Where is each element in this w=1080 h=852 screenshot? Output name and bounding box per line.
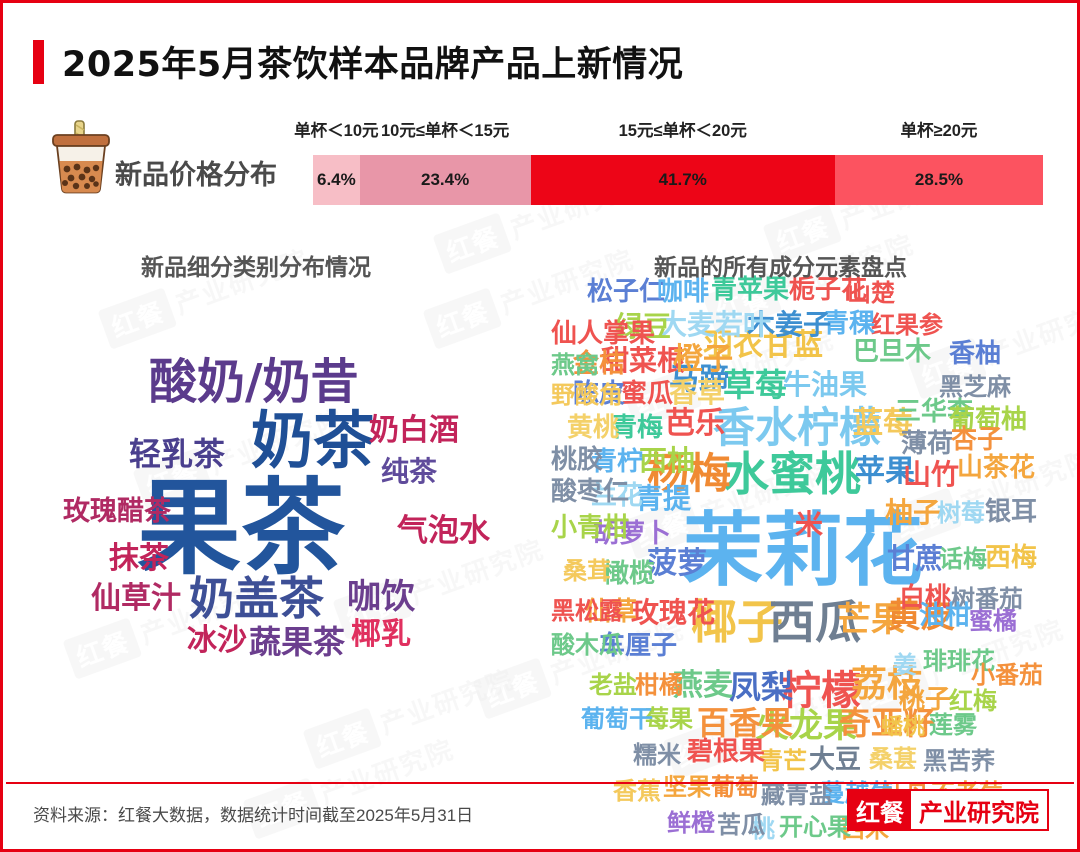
ingredient-word-1: 水蜜桃: [723, 451, 861, 497]
page-title-bar: 2025年5月茶饮样本品牌产品上新情况: [33, 36, 683, 87]
brand-logo: 红餐 产业研究院: [847, 789, 1049, 831]
watermark-badge: 红餐: [433, 212, 513, 274]
ingredient-word-53: 苦瓜: [717, 813, 765, 837]
ingredient-word-cloud: 茉莉花水蜜桃杨梅香水柠檬椰子西瓜柠檬芒果黄皮荔枝火龙果百香果奇亚籽凤梨燕麦草莓马…: [551, 303, 1051, 733]
ingredient-word-62: 柑橘: [635, 673, 683, 697]
ingredient-word-25: 柚子: [885, 499, 941, 527]
ingredient-word-83: 芭乐: [665, 409, 725, 439]
ingredient-word-37: 桃子: [899, 687, 951, 713]
ingredient-word-100: 橙子: [673, 345, 733, 375]
category-word-cloud: 果茶酸奶/奶昔奶茶奶盖茶轻乳茶奶白酒玫瑰醋茶纯茶气泡水抹茶仙草汁咖饮椰乳冰沙蔬果…: [39, 358, 539, 658]
ingredient-word-29: 话梅: [939, 547, 987, 571]
category-word-7: 纯茶: [381, 458, 437, 486]
category-word-10: 仙草汁: [91, 584, 181, 614]
ingredient-word-41: 莲雾: [929, 713, 977, 737]
ingredient-word-11: 百香果: [697, 707, 793, 739]
ingredient-word-88: 薄荷: [901, 431, 953, 457]
category-word-11: 咖饮: [347, 580, 415, 614]
ingredient-word-69: 米: [795, 511, 823, 539]
ingredient-word-70: 菠萝: [647, 549, 707, 579]
ingredient-word-40: 蟠桃: [881, 717, 925, 739]
price-distribution-section: 新品价格分布 单杯＜10元10元≤单杯＜15元15元≤单杯＜20元单杯≥20元 …: [37, 117, 1049, 209]
ingredient-word-45: 青芒: [759, 749, 807, 773]
ingredient-word-42: 黑苦荞: [923, 749, 995, 773]
price-distribution-label: 新品价格分布: [115, 153, 277, 192]
ingredient-word-90: 黑芝麻: [939, 375, 1011, 399]
category-word-6: 玫瑰醋茶: [63, 498, 171, 525]
ingredient-word-91: 香柚: [949, 341, 1001, 367]
ingredient-word-54: 鲜橙: [667, 811, 715, 835]
price-segment-2: 41.7%: [531, 155, 835, 205]
price-bar-labels: 单杯＜10元10元≤单杯＜15元15元≤单杯＜20元单杯≥20元: [313, 117, 1043, 151]
logo-mark: 红餐: [849, 791, 911, 829]
title-accent-bar: [33, 40, 44, 84]
ingredient-word-39: 姜: [893, 653, 917, 677]
ingredient-word-96: 大麦若叶: [659, 311, 771, 339]
ingredient-word-26: 树莓: [937, 501, 985, 525]
ingredient-word-44: 大豆: [809, 747, 861, 773]
ingredient-word-84: 蜜瓜: [621, 381, 673, 407]
ingredient-word-82: 黄桃: [567, 415, 619, 441]
price-segment-1: 23.4%: [360, 155, 531, 205]
ingredient-word-56: 坚果: [663, 775, 711, 799]
bubble-tea-cup-icon: [45, 119, 119, 197]
ingredient-word-63: 老盐: [589, 673, 637, 697]
category-word-9: 抹茶: [109, 544, 169, 574]
ingredient-word-65: 酸木瓜: [551, 633, 623, 657]
ingredient-word-86: 野酸角: [551, 383, 623, 407]
ingredient-word-66: 玫瑰花: [631, 599, 715, 627]
price-segment-label-1: 10元≤单杯＜15元: [381, 117, 509, 141]
ingredient-word-36: 小番茄: [971, 663, 1043, 687]
category-word-8: 气泡水: [397, 516, 490, 547]
ingredient-word-104: 咖啡: [657, 279, 709, 305]
ingredient-word-107: 山楚: [847, 281, 895, 305]
ingredient-word-68: 黑松露: [551, 599, 623, 623]
price-segment-label-2: 15元≤单杯＜20元: [619, 117, 747, 141]
ingredient-word-75: 青提: [635, 485, 691, 513]
watermark-badge: 红餐: [303, 707, 383, 769]
left-section-title: 新品细分类别分布情况: [141, 248, 371, 282]
ingredient-word-80: 桃胶: [551, 447, 603, 473]
price-bar: 6.4%23.4%41.7%28.5%: [313, 155, 1043, 205]
ingredient-word-18: 牛油果: [783, 371, 867, 399]
watermark-badge: 红餐: [98, 287, 178, 349]
ingredient-word-13: 凤梨: [729, 671, 793, 703]
ingredient-word-49: 藏青盐: [761, 783, 833, 807]
category-word-12: 椰乳: [351, 620, 411, 650]
ingredient-word-38: 红梅: [949, 689, 997, 713]
ingredient-word-23: 山竹: [903, 461, 959, 489]
price-segment-label-0: 单杯＜10元: [294, 117, 378, 141]
watermark-badge: 红餐: [423, 287, 503, 349]
ingredient-word-24: 山茶花: [957, 455, 1035, 481]
category-word-3: 奶盖茶: [189, 576, 324, 621]
ingredient-word-77: 酸枣仁: [551, 479, 629, 505]
ingredient-word-93: 红果参: [871, 313, 943, 337]
price-segment-0: 6.4%: [313, 155, 360, 205]
footer-divider: [6, 782, 1074, 784]
ingredient-word-92: 巴旦木: [853, 339, 931, 365]
ingredient-word-74: 小青柑: [551, 515, 629, 541]
category-word-1: 酸奶/奶昔: [149, 358, 359, 406]
price-segment-label-3: 单杯≥20元: [901, 117, 978, 141]
ingredient-word-72: 桑茸: [563, 559, 611, 583]
ingredient-word-102: 燕窝: [551, 353, 599, 377]
watermark-text: 产业研究院: [315, 729, 459, 812]
category-word-5: 奶白酒: [369, 416, 459, 446]
watermark-text: 产业研究院: [375, 659, 519, 742]
ingredient-word-55: 葡萄: [711, 775, 759, 799]
ingredient-word-30: 西梅: [985, 545, 1037, 571]
category-word-13: 冰沙: [187, 626, 247, 656]
category-word-2: 奶茶: [251, 410, 375, 472]
ingredient-word-89: 杏子: [951, 427, 1003, 453]
category-word-4: 轻乳茶: [129, 438, 225, 470]
ingredient-word-51: 开心果: [779, 815, 851, 839]
logo-name: 产业研究院: [911, 791, 1047, 829]
ingredient-word-103: 松子仁: [587, 279, 665, 305]
ingredient-word-34: 蜜橘: [969, 609, 1017, 633]
ingredient-word-78: 西柚: [639, 447, 695, 475]
infographic-frame: 红餐产业研究院红餐产业研究院红餐产业研究院红餐产业研究院红餐产业研究院红餐产业研…: [0, 0, 1080, 852]
ingredient-word-28: 甘蔗: [887, 545, 943, 573]
ingredient-word-87: 香草: [669, 379, 725, 407]
price-segment-3: 28.5%: [835, 155, 1043, 205]
ingredient-word-27: 银耳: [985, 499, 1037, 525]
ingredient-word-59: 碧根果: [687, 739, 765, 765]
ingredient-word-58: 糯米: [633, 743, 681, 767]
right-section-title: 新品的所有成分元素盘点: [654, 248, 907, 282]
ingredient-word-43: 桑葚: [869, 747, 917, 771]
source-note: 资料来源：红餐大数据，数据统计时间截至2025年5月31日: [33, 801, 473, 826]
watermark-9: 红餐产业研究院: [303, 657, 520, 769]
page-title: 2025年5月茶饮样本品牌产品上新情况: [62, 36, 683, 87]
price-bar-wrapper: 单杯＜10元10元≤单杯＜15元15元≤单杯＜20元单杯≥20元 6.4%23.…: [313, 117, 1043, 207]
category-word-14: 蔬果茶: [249, 626, 345, 658]
watermark-badge: 红餐: [473, 657, 553, 719]
ingredient-word-33: 油柑: [919, 603, 971, 629]
ingredient-word-61: 葡萄干: [581, 707, 653, 731]
